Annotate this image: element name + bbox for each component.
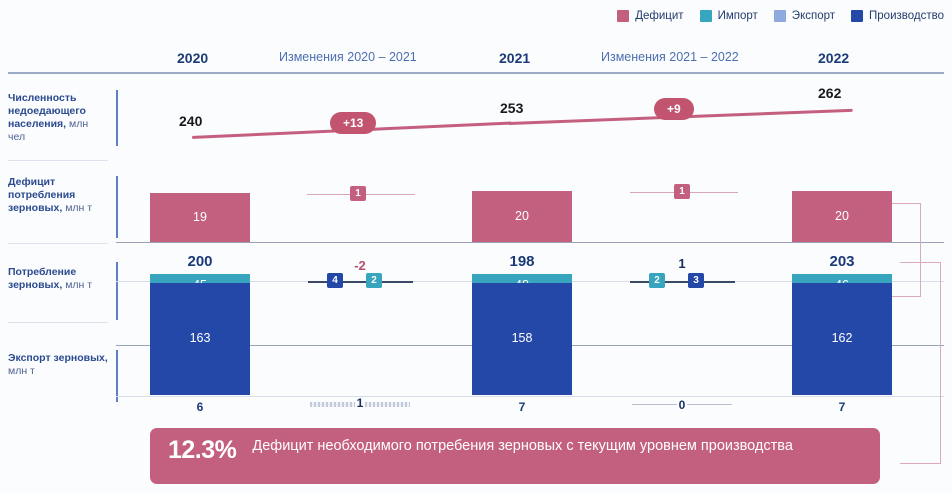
row-label-deficit-l2: потребления bbox=[8, 189, 75, 201]
population-value-2021: 253 bbox=[500, 100, 523, 116]
legend-swatch-export bbox=[774, 10, 786, 22]
column-header-change-2020-2021: Изменения 2020 – 2021 bbox=[279, 50, 417, 64]
summary-percent: 12.3% bbox=[168, 437, 236, 463]
column-header-change-2021-2022: Изменения 2021 – 2022 bbox=[601, 50, 739, 64]
consumption-change-chip-production-2020-2021: 4 bbox=[327, 273, 343, 288]
bracket-consumption-to-banner bbox=[900, 262, 941, 464]
row-label-deficit-l1: Дефицит bbox=[8, 176, 55, 188]
column-header-2020: 2020 bbox=[177, 50, 208, 66]
production-bar-2022: 162 bbox=[792, 283, 892, 395]
production-bar-2020: 163 bbox=[150, 283, 250, 395]
consumption-connector-2021-2022 bbox=[630, 281, 735, 283]
row-label-export-unit: млн т bbox=[8, 365, 35, 377]
consumption-total-2022: 203 bbox=[792, 253, 892, 270]
legend-label-production: Производство bbox=[869, 10, 944, 22]
export-baseline bbox=[116, 396, 944, 397]
row-label-consumption-unit: млн т bbox=[65, 279, 92, 291]
deficit-bar-2020: 19 bbox=[150, 193, 250, 242]
export-change-2020-2021: 1 bbox=[340, 396, 380, 410]
deficit-change-chip-2021-2022: 1 bbox=[674, 184, 690, 199]
population-change-2020-2021: +13 bbox=[330, 112, 376, 134]
row-label-export: Экспорт зерновых, млн т bbox=[8, 352, 108, 378]
consumption-change-2021-2022: 1 bbox=[652, 256, 712, 271]
consumption-change-chip-production-2021-2022: 3 bbox=[688, 273, 704, 288]
population-value-2022: 262 bbox=[818, 85, 841, 101]
legend-item-deficit: Дефицит bbox=[617, 10, 683, 22]
row-label-deficit: Дефицит потребления зерновых, млн т bbox=[8, 176, 108, 215]
row-accent-population bbox=[116, 90, 118, 146]
deficit-baseline bbox=[116, 242, 944, 243]
summary-banner: 12.3% Дефицит необходимого потребения зе… bbox=[150, 428, 880, 484]
infographic-canvas: Дефицит Импорт Экспорт Производство 2020… bbox=[0, 0, 952, 493]
row-accent-deficit bbox=[116, 176, 118, 238]
row-label-population-l2: населения, bbox=[8, 118, 66, 130]
row-accent-export bbox=[116, 350, 118, 402]
row-divider-1 bbox=[8, 160, 108, 161]
row-label-deficit-l3: зерновых, bbox=[8, 202, 62, 214]
legend-item-production: Производство bbox=[851, 10, 944, 22]
legend-item-export: Экспорт bbox=[774, 10, 835, 22]
row-label-population-l1: Численность недоедающего bbox=[8, 92, 86, 117]
row-label-consumption: Потребление зерновых, млн т bbox=[8, 266, 108, 292]
production-bar-value-2022: 162 bbox=[792, 331, 892, 345]
population-value-2020: 240 bbox=[179, 113, 202, 129]
deficit-bar-value-2021: 20 bbox=[472, 209, 572, 223]
consumption-change-chip-import-2021-2022: 2 bbox=[649, 273, 665, 288]
header-divider bbox=[8, 72, 944, 74]
legend-label-deficit: Дефицит bbox=[635, 10, 683, 22]
legend-label-import: Импорт bbox=[718, 10, 758, 22]
deficit-bar-2021: 20 bbox=[472, 191, 572, 242]
legend: Дефицит Импорт Экспорт Производство bbox=[617, 10, 944, 22]
row-divider-3 bbox=[8, 322, 108, 323]
row-label-deficit-unit: млн т bbox=[65, 202, 92, 214]
consumption-change-2020-2021: -2 bbox=[330, 258, 390, 273]
row-accent-consumption bbox=[116, 262, 118, 320]
consumption-connector-2020-2021 bbox=[308, 281, 413, 283]
consumption-total-2021: 198 bbox=[472, 253, 572, 270]
deficit-change-chip-2020-2021: 1 bbox=[350, 186, 366, 201]
production-bar-2021: 158 bbox=[472, 283, 572, 395]
deficit-bar-value-2022: 20 bbox=[792, 209, 892, 223]
legend-swatch-production bbox=[851, 10, 863, 22]
row-label-export-l1: Экспорт bbox=[8, 352, 51, 364]
export-value-2021: 7 bbox=[472, 400, 572, 414]
legend-swatch-import bbox=[700, 10, 712, 22]
production-bar-value-2021: 158 bbox=[472, 331, 572, 345]
summary-text: Дефицит необходимого потребения зерновых… bbox=[252, 437, 793, 456]
export-value-2020: 6 bbox=[150, 400, 250, 414]
production-bar-value-2020: 163 bbox=[150, 331, 250, 345]
row-label-population: Численность недоедающего населения, млн … bbox=[8, 92, 108, 144]
legend-item-import: Импорт bbox=[700, 10, 758, 22]
row-label-consumption-l2: зерновых, bbox=[8, 279, 62, 291]
population-change-2021-2022: +9 bbox=[654, 98, 694, 120]
export-change-2021-2022: 0 bbox=[662, 398, 702, 412]
row-label-export-l2: зерновых, bbox=[54, 352, 108, 364]
legend-label-export: Экспорт bbox=[792, 10, 835, 22]
export-value-2022: 7 bbox=[792, 400, 892, 414]
deficit-bar-2022: 20 bbox=[792, 191, 892, 242]
legend-swatch-deficit bbox=[617, 10, 629, 22]
consumption-total-2020: 200 bbox=[150, 253, 250, 270]
column-header-2022: 2022 bbox=[818, 50, 849, 66]
consumption-change-chip-import-2020-2021: 2 bbox=[366, 273, 382, 288]
deficit-bar-value-2020: 19 bbox=[150, 210, 250, 224]
row-label-consumption-l1: Потребление bbox=[8, 266, 76, 278]
column-header-2021: 2021 bbox=[499, 50, 530, 66]
row-divider-2 bbox=[8, 243, 108, 244]
